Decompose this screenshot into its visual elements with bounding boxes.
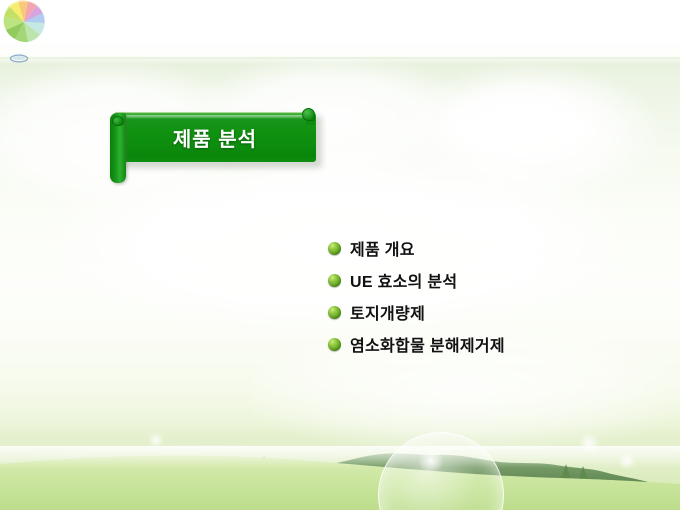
agenda-bullet-list: 제품 개요 UE 효소의 분석 토지개량제 염소화합물 분해제거제	[328, 232, 658, 360]
light-flare	[148, 432, 164, 448]
presentation-slide: 제품 분석 제품 개요 UE 효소의 분석 토지개량제 염소화합물 분해제거제	[0, 0, 680, 510]
light-flare	[618, 452, 636, 470]
landscape-svg	[0, 420, 680, 510]
landscape-illustration	[0, 420, 680, 510]
top-band-edge-line	[0, 57, 680, 60]
list-item-label: 토지개량제	[350, 300, 425, 324]
list-item[interactable]: 염소화합물 분해제거제	[328, 328, 658, 360]
rainbow-fan-logo	[2, 0, 54, 48]
green-sphere-bullet-icon	[328, 338, 341, 351]
list-item[interactable]: 토지개량제	[328, 296, 658, 328]
list-item-label: UE 효소의 분석	[350, 268, 457, 292]
green-sphere-bullet-icon	[328, 274, 341, 287]
list-item[interactable]: UE 효소의 분석	[328, 264, 658, 296]
list-item[interactable]: 제품 개요	[328, 232, 658, 264]
horizon-haze	[0, 446, 680, 468]
list-item-label: 염소화합물 분해제거제	[350, 332, 505, 356]
slide-title-banner: 제품 분석	[110, 108, 322, 186]
green-sphere-bullet-icon	[328, 242, 341, 255]
top-white-band	[0, 0, 680, 58]
green-sphere-bullet-icon	[328, 306, 341, 319]
list-item-label: 제품 개요	[350, 236, 415, 260]
blue-oval-mark	[9, 54, 29, 63]
light-flare	[418, 448, 444, 474]
page-title: 제품 분석	[114, 112, 316, 162]
light-flare	[578, 432, 600, 454]
